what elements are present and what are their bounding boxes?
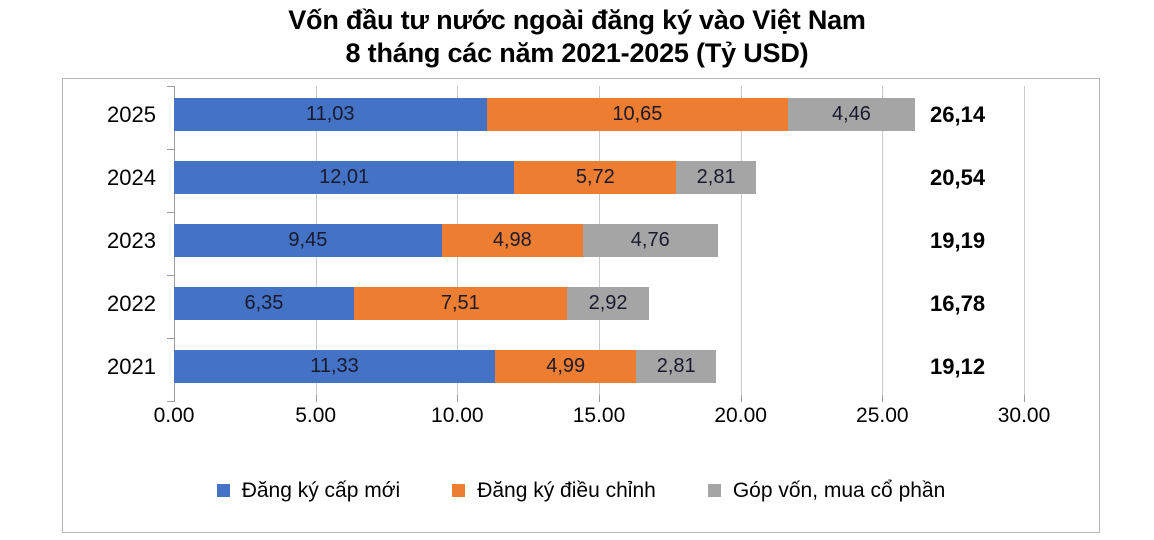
- bar-value-label: 2,92: [589, 292, 628, 315]
- legend-label: Đăng ký điều chỉnh: [477, 479, 656, 503]
- gridline: [882, 86, 883, 395]
- x-axis-tick-label: 5.00: [271, 404, 361, 428]
- category-label-2025: 2025: [36, 98, 156, 131]
- bar-value-label: 5,72: [576, 166, 615, 189]
- legend-item[interactable]: Đăng ký điều chỉnh: [452, 479, 656, 503]
- bar-segment: 10,65: [487, 98, 789, 131]
- bar-value-label: 6,35: [244, 292, 283, 315]
- category-label-2021: 2021: [36, 350, 156, 383]
- bar-value-label: 12,01: [319, 166, 369, 189]
- bar-segment: 2,92: [567, 287, 650, 320]
- legend-swatch-icon: [708, 484, 721, 497]
- legend-swatch-icon: [452, 484, 465, 497]
- x-axis-tickmark: [741, 395, 742, 402]
- category-tickmark: [167, 401, 174, 402]
- legend-label: Đăng ký cấp mới: [242, 479, 401, 503]
- bar-segment: 5,72: [514, 161, 676, 194]
- x-axis-tick-label: 0.00: [129, 404, 219, 428]
- x-axis-tick-label: 15.00: [554, 404, 644, 428]
- bar-segment: 4,99: [495, 350, 636, 383]
- x-axis-tick-label: 10.00: [412, 404, 502, 428]
- chart-title: Vốn đầu tư nước ngoài đăng ký vào Việt N…: [0, 4, 1154, 70]
- x-axis-tickmark: [457, 395, 458, 402]
- x-axis-tickmark: [1024, 395, 1025, 402]
- bar-value-label: 10,65: [612, 103, 662, 126]
- bar-value-label: 7,51: [441, 292, 480, 315]
- legend-item[interactable]: Đăng ký cấp mới: [217, 479, 401, 503]
- chart-title-line2: 8 tháng các năm 2021-2025 (Tỷ USD): [0, 37, 1154, 70]
- bar-segment: 9,45: [174, 224, 442, 257]
- chart-container: Vốn đầu tư nước ngoài đăng ký vào Việt N…: [0, 0, 1154, 540]
- bar-value-label: 4,46: [832, 103, 871, 126]
- category-tickmark: [167, 149, 174, 150]
- x-axis-tickmark: [599, 395, 600, 402]
- bar-segment: 12,01: [174, 161, 514, 194]
- chart-legend: Đăng ký cấp mớiĐăng ký điều chỉnhGóp vốn…: [62, 468, 1100, 513]
- bar-segment: 11,03: [174, 98, 487, 131]
- total-value-label: 19,12: [930, 350, 1040, 383]
- x-axis-tick-label: 20.00: [696, 404, 786, 428]
- bar-segment: 6,35: [174, 287, 354, 320]
- category-tickmark: [167, 86, 174, 87]
- total-value-label: 19,19: [930, 224, 1040, 257]
- bar-segment: 2,81: [636, 350, 716, 383]
- bar-value-label: 11,03: [306, 103, 355, 126]
- bar-value-label: 2,81: [657, 355, 696, 378]
- bar-segment: 11,33: [174, 350, 495, 383]
- bar-segment: 7,51: [354, 287, 567, 320]
- bar-value-label: 9,45: [288, 229, 327, 252]
- legend-item[interactable]: Góp vốn, mua cổ phần: [708, 479, 945, 503]
- category-tickmark: [167, 212, 174, 213]
- category-label-2023: 2023: [36, 224, 156, 257]
- legend-swatch-icon: [217, 484, 230, 497]
- bar-segment: 4,46: [788, 98, 914, 131]
- bar-value-label: 11,33: [310, 355, 359, 378]
- category-label-2022: 2022: [36, 287, 156, 320]
- legend-label: Góp vốn, mua cổ phần: [733, 479, 945, 503]
- gridline: [741, 86, 742, 395]
- bar-segment: 4,76: [583, 224, 718, 257]
- bar-value-label: 4,76: [631, 229, 670, 252]
- chart-title-line1: Vốn đầu tư nước ngoài đăng ký vào Việt N…: [0, 4, 1154, 37]
- category-label-2024: 2024: [36, 161, 156, 194]
- x-axis-tickmark: [316, 395, 317, 402]
- total-value-label: 26,14: [930, 98, 1040, 131]
- bar-value-label: 4,99: [546, 355, 585, 378]
- x-axis-tickmark: [174, 395, 175, 402]
- bar-segment: 4,98: [442, 224, 583, 257]
- total-value-label: 20,54: [930, 161, 1040, 194]
- x-axis-tickmark: [882, 395, 883, 402]
- bar-value-label: 2,81: [697, 166, 736, 189]
- bar-segment: 2,81: [676, 161, 756, 194]
- x-axis-tick-label: 30.00: [979, 404, 1069, 428]
- category-tickmark: [167, 275, 174, 276]
- x-axis-tick-label: 25.00: [837, 404, 927, 428]
- category-tickmark: [167, 338, 174, 339]
- bar-value-label: 4,98: [493, 229, 532, 252]
- total-value-label: 16,78: [930, 287, 1040, 320]
